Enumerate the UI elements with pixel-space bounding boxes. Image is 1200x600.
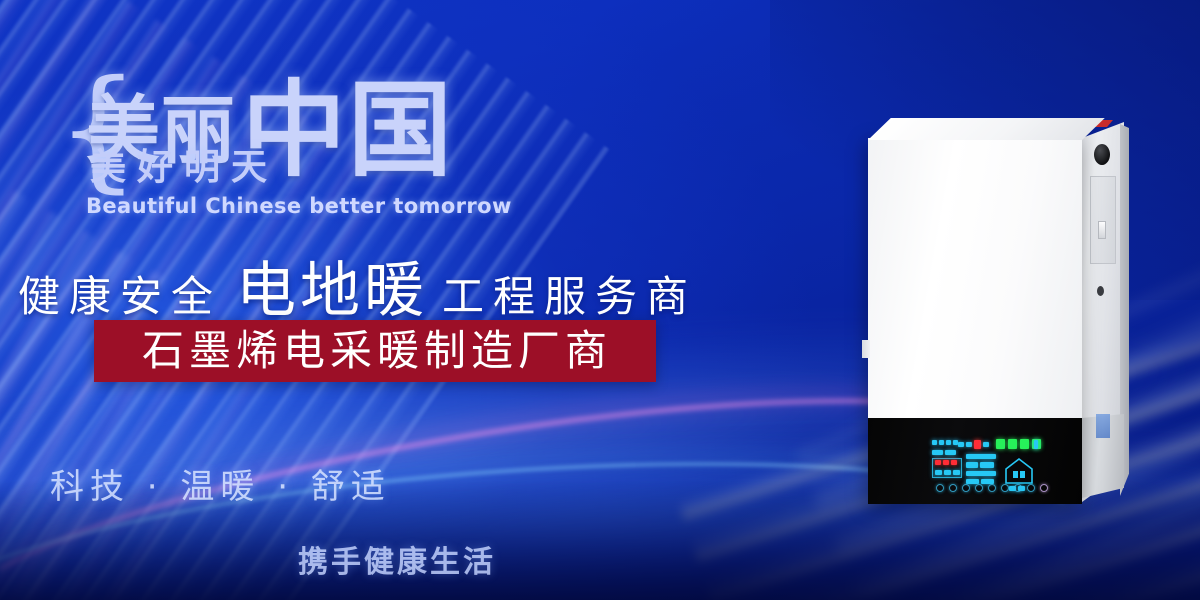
headline: 健康安全 电地暖 工程服务商 — [18, 258, 697, 318]
lcd-button[interactable] — [1027, 484, 1035, 492]
lcd-seg — [932, 450, 943, 455]
lcd-seg-alert — [974, 440, 981, 449]
boiler-lcd-display — [930, 440, 1048, 494]
brand-logo: { 美丽中国 美好明天 Beautiful Chinese better tom… — [56, 52, 476, 222]
boiler-side-knob — [1098, 221, 1106, 239]
lcd-button-row[interactable] — [936, 484, 1048, 492]
lcd-seg — [966, 462, 978, 468]
lcd-seg-alert — [935, 460, 941, 465]
lcd-sub-labels — [932, 450, 956, 455]
lcd-seg — [958, 442, 964, 447]
lcd-digit — [996, 439, 1005, 449]
lcd-seg — [935, 470, 942, 475]
lcd-house-icon — [1004, 457, 1034, 485]
lcd-seg — [966, 471, 996, 476]
lcd-mode-icons — [958, 440, 989, 449]
slogan-secondary: 携手健康生活 — [298, 548, 496, 578]
boiler-exhaust-port-icon — [1094, 144, 1110, 165]
lcd-seg — [946, 440, 951, 445]
lcd-digit — [1008, 439, 1017, 449]
lcd-button[interactable] — [975, 484, 983, 492]
boiler-top-face — [868, 118, 1105, 140]
lcd-button[interactable] — [949, 484, 957, 492]
lcd-button[interactable] — [1014, 484, 1022, 492]
boiler-side-recess — [1090, 176, 1116, 264]
lcd-mid-row-3 — [966, 471, 996, 476]
red-banner-text: 石墨烯电采暖制造厂商 — [138, 330, 612, 372]
lcd-top-labels — [932, 440, 958, 445]
lcd-seg-alert — [943, 460, 949, 465]
lcd-seg — [944, 470, 951, 475]
lcd-seg — [932, 440, 937, 445]
lcd-mid-row-2 — [966, 462, 994, 468]
headline-part-2-emphasis: 电地暖 — [236, 261, 428, 321]
lcd-left-subrow — [935, 470, 960, 475]
boiler-side-vent — [1096, 414, 1110, 438]
lcd-left-indicators — [935, 460, 957, 465]
lcd-power-button[interactable] — [1040, 484, 1048, 492]
lcd-mid-row-1 — [966, 454, 996, 459]
lcd-button[interactable] — [988, 484, 996, 492]
headline-part-1: 健康安全 — [18, 276, 222, 318]
lcd-button[interactable] — [962, 484, 970, 492]
lcd-seg-alert — [951, 460, 957, 465]
logo-english-tagline: Beautiful Chinese better tomorrow — [86, 194, 512, 218]
lcd-seg — [966, 454, 996, 459]
headline-part-3: 工程服务商 — [442, 276, 697, 318]
logo-subtitle: 美好明天 — [90, 150, 278, 186]
boiler-side-hole — [1097, 286, 1104, 296]
lcd-seg — [1034, 440, 1038, 449]
lcd-seg — [980, 462, 994, 468]
lcd-button[interactable] — [1001, 484, 1009, 492]
lcd-seg — [945, 450, 956, 455]
lcd-seg — [953, 470, 960, 475]
lcd-signal-icon — [1034, 440, 1038, 449]
boiler-left-tab — [862, 340, 870, 358]
promo-banner: { 美丽中国 美好明天 Beautiful Chinese better tom… — [0, 0, 1200, 600]
lcd-button[interactable] — [936, 484, 944, 492]
lcd-seg — [966, 442, 972, 447]
lcd-digit — [1020, 439, 1029, 449]
red-callout-banner: 石墨烯电采暖制造厂商 — [94, 320, 656, 382]
lcd-seg — [939, 440, 944, 445]
slogan-primary: 科技 · 温暖 · 舒适 — [50, 470, 391, 504]
product-electric-boiler — [868, 118, 1138, 504]
lcd-seg — [983, 442, 989, 447]
